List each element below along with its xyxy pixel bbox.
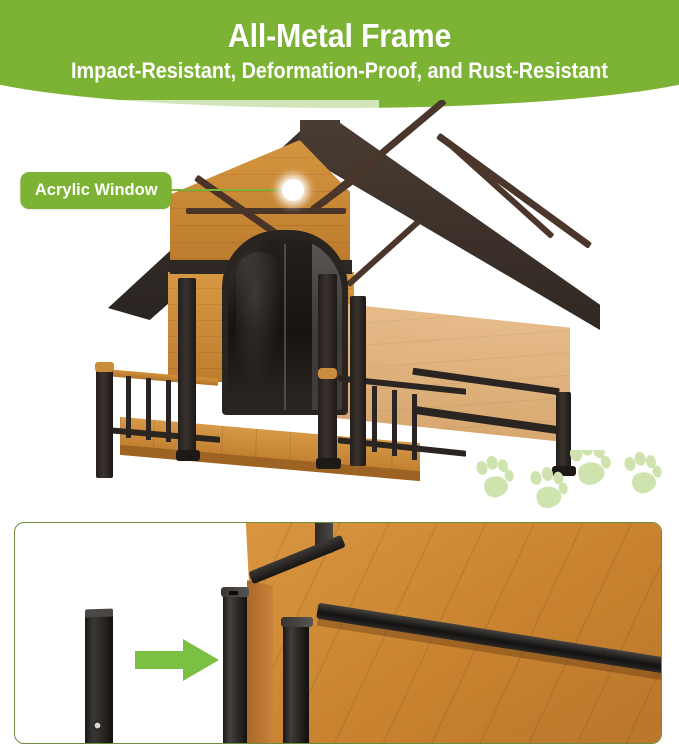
post-foot [316, 458, 341, 469]
paw-icon [529, 464, 571, 510]
window-sheen [236, 252, 282, 392]
railing-post-cap [95, 362, 114, 372]
inserting-metal-post-slot [229, 591, 238, 595]
structural-post-mid [350, 296, 366, 466]
detail-panel [14, 522, 662, 744]
callout-acrylic-window: Acrylic Window [20, 172, 172, 209]
window-seam [284, 244, 286, 410]
gable-beam-horizontal [186, 208, 346, 214]
baluster [412, 394, 417, 460]
paw-icon [475, 452, 518, 500]
railing-post-front-left [96, 368, 113, 478]
post-cap-wood [318, 368, 337, 379]
baluster [372, 386, 377, 452]
wood-body-edge [247, 580, 273, 744]
paw-icon [568, 450, 616, 488]
arrow-right-icon [135, 639, 219, 681]
truss-beam-3 [346, 219, 421, 288]
baluster [166, 380, 171, 442]
header-banner: All-Metal Frame Impact-Resistant, Deform… [0, 0, 679, 108]
paw-prints-svg [460, 450, 675, 512]
loose-metal-post-cap [85, 609, 113, 618]
screw-icon [93, 721, 102, 730]
paw-prints-decoration [460, 450, 675, 512]
baluster [146, 378, 151, 440]
post-foot [176, 450, 200, 461]
baluster [392, 390, 397, 456]
callout-leader-line [160, 189, 296, 191]
paw-icon [623, 450, 666, 496]
callout-marker-dot [282, 179, 304, 201]
installed-metal-post [283, 623, 309, 744]
inserting-metal-post [223, 593, 247, 744]
page-subtitle: Impact-Resistant, Deformation-Proof, and… [34, 58, 645, 84]
install-direction-arrow [135, 639, 219, 681]
baluster [126, 376, 131, 438]
structural-post-front-left [178, 278, 196, 454]
installed-metal-post-cap [281, 617, 313, 627]
page-title: All-Metal Frame [27, 17, 652, 55]
